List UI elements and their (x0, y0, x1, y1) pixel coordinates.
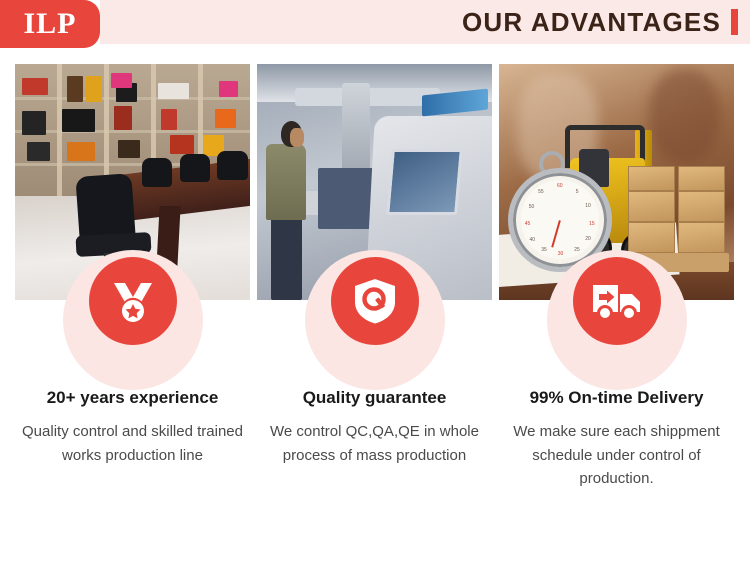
advantage-card-quality: Quality guarantee We control QC,QA,QE in… (257, 64, 492, 490)
advantage-card-experience: 20+ years experience Quality control and… (15, 64, 250, 490)
header-title-group: OUR ADVANTAGES (462, 0, 738, 44)
card-description: Quality control and skilled trained work… (19, 420, 246, 467)
page-title: OUR ADVANTAGES (462, 9, 721, 35)
header-accent-bar (731, 9, 738, 35)
medal-icon (89, 257, 177, 345)
badge-zone-delivery (499, 300, 734, 388)
brand-logo[interactable]: ILP (0, 0, 100, 48)
badge-zone-quality (257, 300, 492, 388)
delivery-truck-icon (573, 257, 661, 345)
card-text-quality: Quality guarantee We control QC,QA,QE in… (257, 388, 492, 467)
card-title: Quality guarantee (261, 388, 488, 408)
page-header: ILP OUR ADVANTAGES (0, 0, 750, 48)
shield-q-icon (331, 257, 419, 345)
badge-zone-experience (15, 300, 250, 388)
worker-body (266, 144, 306, 220)
card-title: 99% On-time Delivery (503, 388, 730, 408)
card-text-delivery: 99% On-time Delivery We make sure each s… (499, 388, 734, 490)
card-text-experience: 20+ years experience Quality control and… (15, 388, 250, 467)
advantage-cards: 20+ years experience Quality control and… (0, 64, 750, 490)
card-description: We control QC,QA,QE in whole process of … (261, 420, 488, 467)
advantage-card-delivery: 60 55 50 45 40 35 30 25 20 15 10 5 (499, 64, 734, 490)
card-description: We make sure each shippment schedule und… (503, 420, 730, 490)
brand-logo-text: ILP (23, 9, 76, 39)
inspection-monitor (386, 149, 462, 215)
card-title: 20+ years experience (19, 388, 246, 408)
